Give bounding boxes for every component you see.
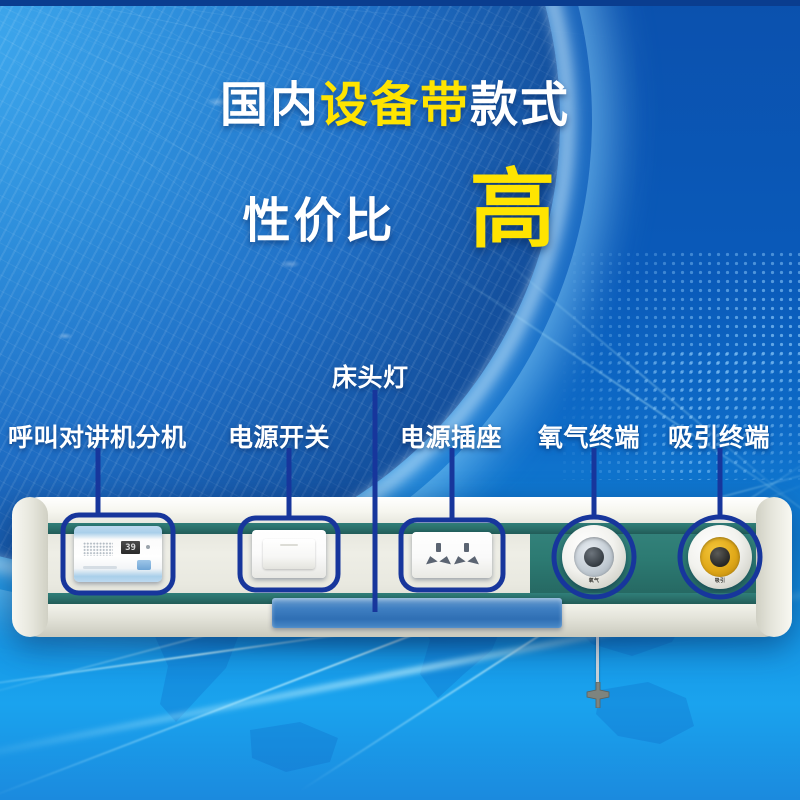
callout-label-intercom: 呼叫对讲机分机 <box>8 418 187 454</box>
promo-banner: 国内设备带款式 性价比 高 呼叫对讲机分机 电源开关 床头灯 电源插座 氧气终端… <box>0 0 800 800</box>
callout-label-oxygen-terminal: 氧气终端 <box>538 418 640 454</box>
callout-label-bed-lamp: 床头灯 <box>332 358 409 394</box>
callout-label-power-socket: 电源插座 <box>400 418 502 454</box>
callout-label-power-switch: 电源开关 <box>228 418 330 454</box>
callout-labels: 呼叫对讲机分机 电源开关 床头灯 电源插座 氧气终端 吸引终端 <box>0 0 800 800</box>
callout-label-suction-terminal: 吸引终端 <box>668 418 770 454</box>
